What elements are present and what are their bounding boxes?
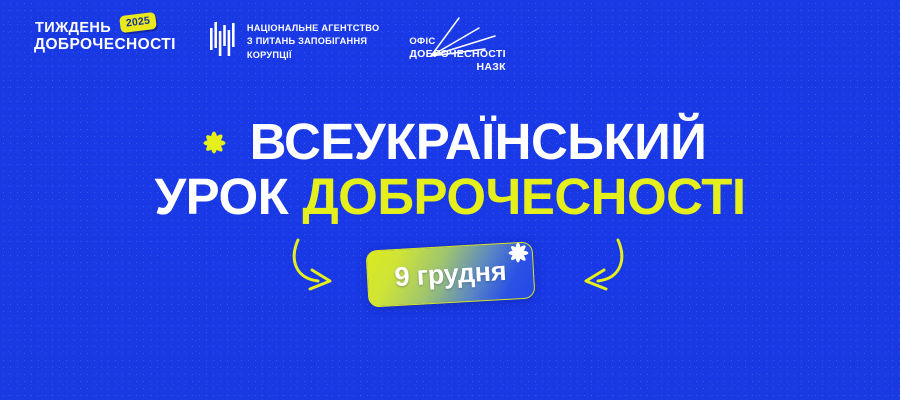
date-badge-text: 9 грудня <box>394 256 507 293</box>
logo-nazk-line3: КОРУПЦІЇ <box>247 49 379 62</box>
nazk-bars-icon <box>210 22 238 61</box>
curved-arrow-right-icon <box>288 236 360 301</box>
logo-week-line2: ДОБРОЧЕСНОСТІ <box>34 36 176 53</box>
logo-integrity-office: ОФІС ДОБРОЧЕСНОСТІ НАЗК <box>403 20 506 74</box>
curved-arrow-left-icon <box>556 236 628 301</box>
date-row: 9 грудня <box>0 228 900 338</box>
logo-nazk-line2: З ПИТАНЬ ЗАПОБІГАННЯ <box>247 35 379 48</box>
logo-nazk: НАЦІОНАЛЬНЕ АГЕНТСТВО З ПИТАНЬ ЗАПОБІГАН… <box>202 20 403 62</box>
headline-line-1: ВСЕУКРАЇНСЬКИЙ <box>0 118 900 167</box>
headline-line-2: УРОК ДОБРОЧЕСНОСТІ <box>0 173 900 222</box>
asterisk-icon-white <box>500 235 536 276</box>
promo-banner: ТИЖДЕНЬ ДОБРОЧЕСНОСТІ 2025 НАЦ <box>0 0 900 400</box>
headline-text-urok: УРОК <box>154 173 288 222</box>
asterisk-icon-yellow <box>194 123 234 166</box>
logo-nazk-line1: НАЦІОНАЛЬНЕ АГЕНТСТВО <box>247 22 379 35</box>
headline-block: ВСЕУКРАЇНСЬКИЙ УРОК ДОБРОЧЕСНОСТІ <box>0 118 900 222</box>
headline-text-dobrochesnosti: ДОБРОЧЕСНОСТІ <box>302 173 745 222</box>
rays-icon <box>429 16 505 65</box>
logo-integrity-week: ТИЖДЕНЬ ДОБРОЧЕСНОСТІ 2025 <box>34 20 202 54</box>
logo-nazk-text: НАЦІОНАЛЬНЕ АГЕНТСТВО З ПИТАНЬ ЗАПОБІГАН… <box>247 22 379 62</box>
logo-strip: ТИЖДЕНЬ ДОБРОЧЕСНОСТІ 2025 НАЦ <box>34 20 506 74</box>
headline-text-line1: ВСЕУКРАЇНСЬКИЙ <box>250 118 707 167</box>
